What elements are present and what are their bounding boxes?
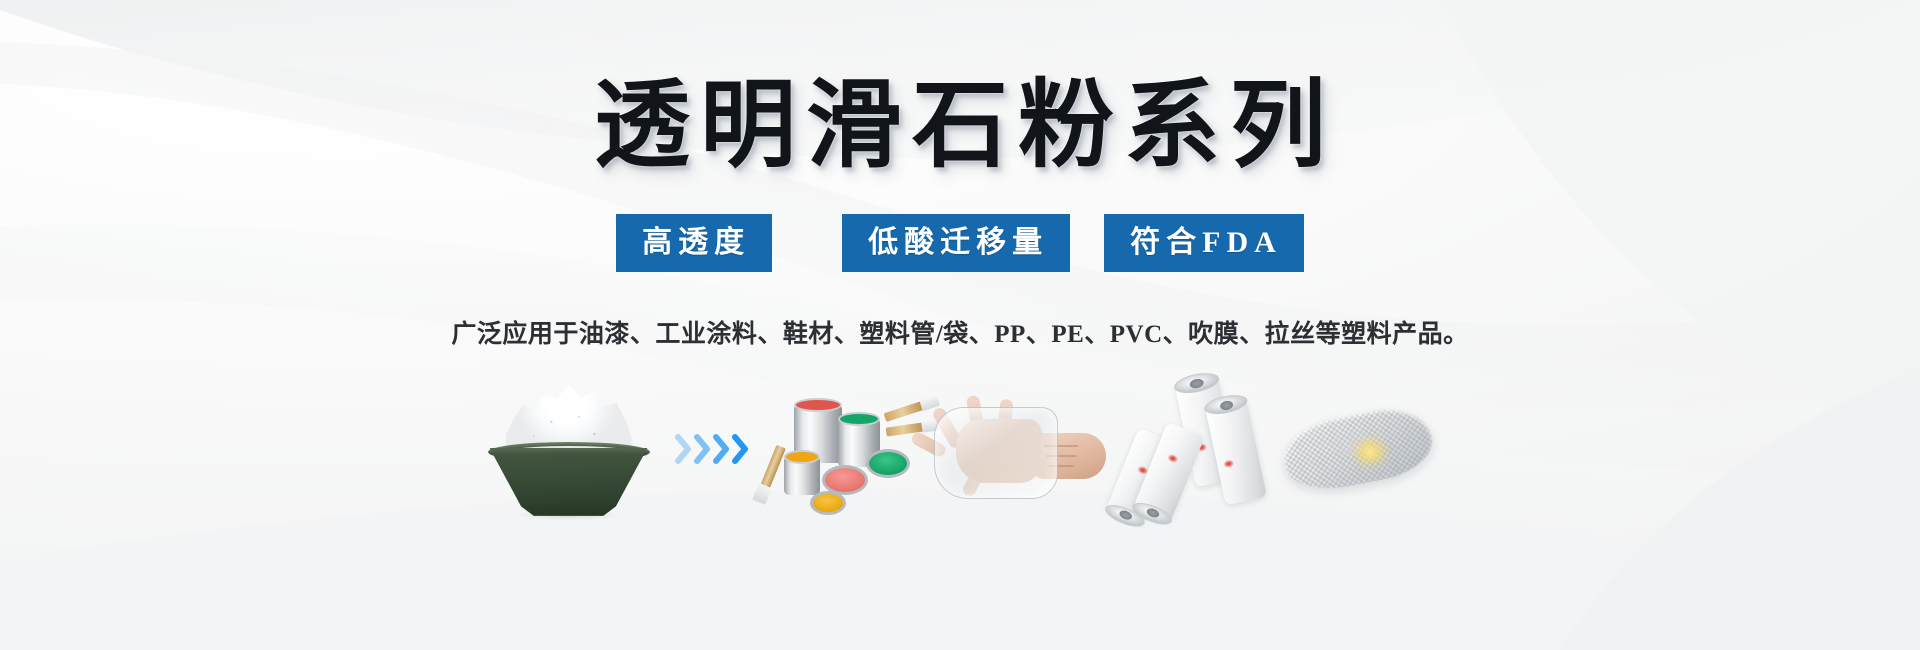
- banner-content: 透明滑石粉系列 高透度 低酸迁移量 符合FDA 广泛应用于油漆、工业涂料、鞋材、…: [0, 0, 1920, 650]
- film-rolls-illustration: [1115, 374, 1265, 524]
- transparent-glove-film: [934, 407, 1058, 499]
- film-roll: [1205, 399, 1267, 506]
- feature-badge-fda-compliant: 符合FDA: [1104, 214, 1304, 272]
- product-application-strip: [476, 374, 1445, 524]
- chevron-group: [675, 434, 749, 464]
- product-talc-powder-bowl: [476, 374, 662, 524]
- bowl-illustration: [484, 382, 654, 517]
- product-plastic-film-rolls: [1110, 374, 1270, 524]
- feature-badge-low-acid-migration: 低酸迁移量: [842, 214, 1070, 272]
- chevron-right-icon: [713, 434, 730, 464]
- application-description: 广泛应用于油漆、工业涂料、鞋材、塑料管/袋、PP、PE、PVC、吹膜、拉丝等塑料…: [451, 314, 1468, 350]
- paint-surface-red: [794, 398, 842, 412]
- feature-badge-row: 高透度 低酸迁移量 符合FDA: [616, 214, 1304, 272]
- page-title: 透明滑石粉系列: [584, 78, 1336, 174]
- roll-red-mark: [1166, 453, 1179, 465]
- paint-brush-icon: [760, 445, 786, 490]
- paint-lid-yellow: [810, 491, 846, 515]
- paint-lid-green: [866, 449, 910, 478]
- paint-surface-yellow: [784, 450, 820, 464]
- chevron-right-icon: [675, 434, 692, 464]
- paint-can-yellow: [784, 457, 820, 495]
- product-shoe-sole: [1270, 374, 1445, 524]
- process-arrows: [662, 374, 762, 524]
- paint-surface-green: [838, 412, 880, 426]
- paint-cans-illustration: [766, 379, 926, 519]
- shoe-sole-illustration: [1277, 394, 1437, 504]
- paint-brush-icon: [883, 401, 924, 422]
- roll-red-mark: [1222, 459, 1234, 469]
- product-banner: 透明滑石粉系列 高透度 低酸迁移量 符合FDA 广泛应用于油漆、工业涂料、鞋材、…: [0, 0, 1920, 650]
- bowl-body: [490, 448, 648, 516]
- chevron-right-icon: [732, 434, 749, 464]
- gloved-hands-illustration: [934, 389, 1106, 509]
- product-plastic-gloves: [930, 374, 1110, 524]
- chevron-right-icon: [694, 434, 711, 464]
- feature-badge-high-transparency: 高透度: [616, 214, 772, 272]
- product-paint-cans: [762, 374, 930, 524]
